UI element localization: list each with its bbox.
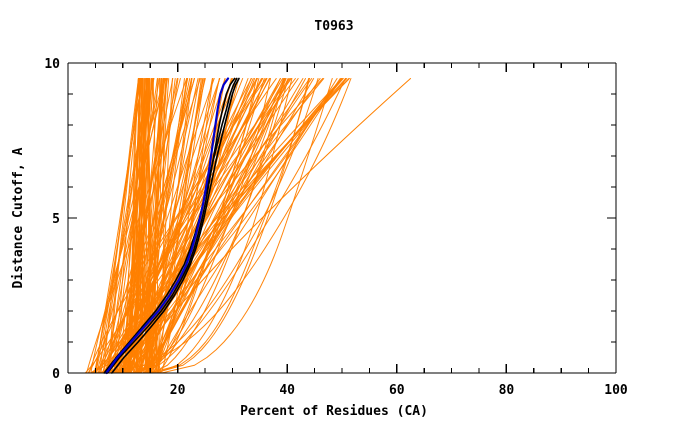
x-tick-label-80: 80 [499, 383, 515, 398]
x-tick-label-40: 40 [279, 383, 295, 398]
chart-container: T0963 0204060801000510 Percent of Residu… [0, 0, 680, 440]
chart-background [0, 0, 680, 440]
x-tick-label-20: 20 [170, 383, 186, 398]
chart-canvas: T0963 0204060801000510 Percent of Residu… [0, 0, 680, 440]
x-tick-label-100: 100 [604, 383, 628, 398]
x-axis-label: Percent of Residues (CA) [240, 404, 428, 419]
y-tick-label-10: 10 [44, 57, 60, 72]
chart-title: T0963 [314, 19, 353, 34]
x-tick-label-0: 0 [64, 383, 72, 398]
y-tick-label-0: 0 [52, 367, 60, 382]
y-axis-label: Distance Cutoff, A [11, 147, 26, 288]
y-tick-label-5: 5 [52, 212, 60, 227]
x-tick-label-60: 60 [389, 383, 405, 398]
